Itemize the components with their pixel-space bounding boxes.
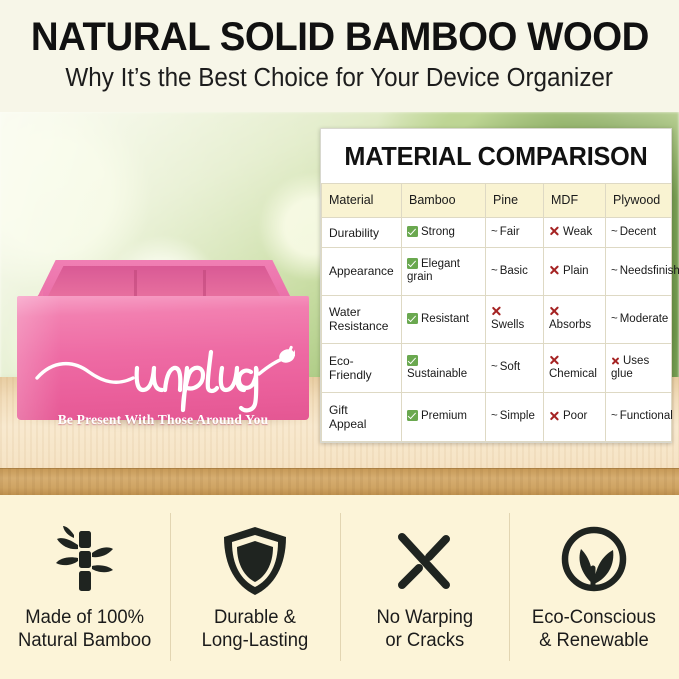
cell-text: Strong [421, 226, 455, 238]
cell-text: Functional [620, 410, 673, 422]
feature-item-bamboo: Made of 100% Natural Bamboo [0, 495, 170, 679]
cell-r1-c0: Elegant grain [402, 248, 486, 295]
feature-item-eco: Eco-Conscious & Renewable [509, 495, 679, 679]
column-header-pine: Pine [486, 184, 544, 218]
feature-item-no-warping: No Warping or Cracks [340, 495, 510, 679]
feature-label-eco: Eco-Conscious & Renewable [532, 606, 656, 652]
cell-r0-c0: Strong [402, 218, 486, 248]
cell-r1-c1: ~Basic [486, 248, 544, 295]
check-icon [407, 226, 418, 237]
cell-r2-c0: Resistant [402, 295, 486, 344]
cell-r2-c1: Swells [486, 295, 544, 344]
table-row: AppearanceElegant grain~BasicPlain~Needs… [322, 248, 672, 295]
neutral-icon: ~ [491, 410, 498, 422]
box-divider-right [203, 270, 206, 296]
table-row: Eco-FriendlySustainable~SoftChemicalUses… [322, 344, 672, 393]
check-icon [407, 313, 418, 324]
column-header-mdf: MDF [544, 184, 606, 218]
table-header-row: Material Bamboo Pine MDF Plywood [322, 184, 672, 218]
cell-r4-c3: ~Functional [606, 393, 672, 442]
cell-r3-c2: Chemical [544, 344, 606, 393]
table-row: DurabilityStrong~FairWeak~Decent [322, 218, 672, 248]
box-front-panel: Be Present With Those Around You [17, 296, 309, 420]
cell-text: Moderate [620, 313, 669, 325]
feature-label-no-warping: No Warping or Cracks [376, 606, 473, 652]
cross-icon [549, 265, 560, 276]
column-header-plywood: Plywood [606, 184, 672, 218]
check-icon [407, 258, 418, 269]
cell-text: Chemical [549, 368, 597, 380]
neutral-icon: ~ [491, 361, 498, 373]
cell-r2-c2: Absorbs [544, 295, 606, 344]
cell-r2-c3: ~Moderate [606, 295, 672, 344]
cell-text: Poor [563, 410, 587, 422]
cell-r3-c1: ~Soft [486, 344, 544, 393]
material-comparison-card: MATERIAL COMPARISON Material Bamboo Pine… [320, 128, 672, 443]
feature-label-durable: Durable & Long-Lasting [201, 606, 308, 652]
cell-r4-c0: Premium [402, 393, 486, 442]
cell-text: Swells [491, 319, 524, 331]
crossed-sticks-icon [389, 522, 459, 600]
neutral-icon: ~ [611, 313, 618, 325]
cross-icon [611, 357, 620, 366]
column-header-bamboo: Bamboo [402, 184, 486, 218]
feature-item-durable: Durable & Long-Lasting [170, 495, 340, 679]
comparison-table: Material Bamboo Pine MDF Plywood Durabil… [321, 183, 672, 442]
cell-text: Simple [500, 410, 535, 422]
cross-icon [549, 226, 560, 237]
leaf-circle-icon [557, 522, 631, 600]
neutral-icon: ~ [611, 265, 618, 277]
neutral-icon: ~ [611, 410, 618, 422]
bamboo-stalk-icon [48, 522, 122, 600]
cell-text: Fair [500, 226, 520, 238]
column-header-material: Material [322, 184, 402, 218]
cell-text: Weak [563, 226, 592, 238]
row-label-2: WaterResistance [322, 295, 402, 344]
neutral-icon: ~ [491, 265, 498, 277]
cell-r4-c2: Poor [544, 393, 606, 442]
cell-text: Plain [563, 265, 589, 277]
comparison-table-body: DurabilityStrong~FairWeak~DecentAppearan… [322, 218, 672, 442]
cell-r1-c3: ~Needsfinish [606, 248, 672, 295]
cell-text: Needsfinish [620, 265, 679, 277]
row-label-1: Appearance [322, 248, 402, 295]
wood-table-edge [0, 468, 679, 495]
product-organizer-box: Be Present With Those Around You [17, 260, 309, 429]
cell-r0-c1: ~Fair [486, 218, 544, 248]
cell-r0-c3: ~Decent [606, 218, 672, 248]
table-row: GiftAppealPremium~SimplePoor~Functional [322, 393, 672, 442]
product-tagline: Be Present With Those Around You [17, 412, 309, 428]
box-inner-cavity [47, 266, 281, 298]
comparison-title: MATERIAL COMPARISON [326, 129, 666, 183]
cell-r0-c2: Weak [544, 218, 606, 248]
row-label-3: Eco-Friendly [322, 344, 402, 393]
cell-r4-c1: ~Simple [486, 393, 544, 442]
row-label-4: GiftAppeal [322, 393, 402, 442]
feature-label-bamboo: Made of 100% Natural Bamboo [18, 606, 151, 652]
cell-text: Premium [421, 410, 467, 422]
cell-text: Decent [620, 226, 656, 238]
plug-icon [277, 345, 295, 365]
box-divider-left [134, 270, 137, 296]
cell-r1-c2: Plain [544, 248, 606, 295]
table-row: WaterResistanceResistantSwellsAbsorbs~Mo… [322, 295, 672, 344]
cross-icon [549, 306, 560, 317]
page-subtitle: Why It’s the Best Choice for Your Device… [66, 64, 614, 92]
neutral-icon: ~ [611, 226, 618, 238]
page-title: NATURAL SOLID BAMBOO WOOD [31, 16, 649, 58]
check-icon [407, 410, 418, 421]
cell-text: Resistant [421, 313, 469, 325]
cell-text: Absorbs [549, 319, 591, 331]
cell-text: Soft [500, 361, 520, 373]
cell-r3-c3: Uses glue [606, 344, 672, 393]
page-header: NATURAL SOLID BAMBOO WOOD Why It’s the B… [0, 0, 679, 112]
cell-r3-c0: Sustainable [402, 344, 486, 393]
row-label-0: Durability [322, 218, 402, 248]
cross-icon [491, 306, 502, 317]
cross-icon [549, 355, 560, 366]
cell-text: Sustainable [407, 368, 467, 380]
cross-icon [549, 410, 560, 421]
shield-icon [220, 522, 290, 600]
feature-benefits-strip: Made of 100% Natural Bamboo Durable & Lo… [0, 495, 679, 679]
power-cord-icon [37, 364, 133, 383]
cell-text: Basic [500, 265, 528, 277]
unplug-script-artwork [33, 342, 295, 414]
neutral-icon: ~ [491, 226, 498, 238]
check-icon [407, 355, 418, 366]
